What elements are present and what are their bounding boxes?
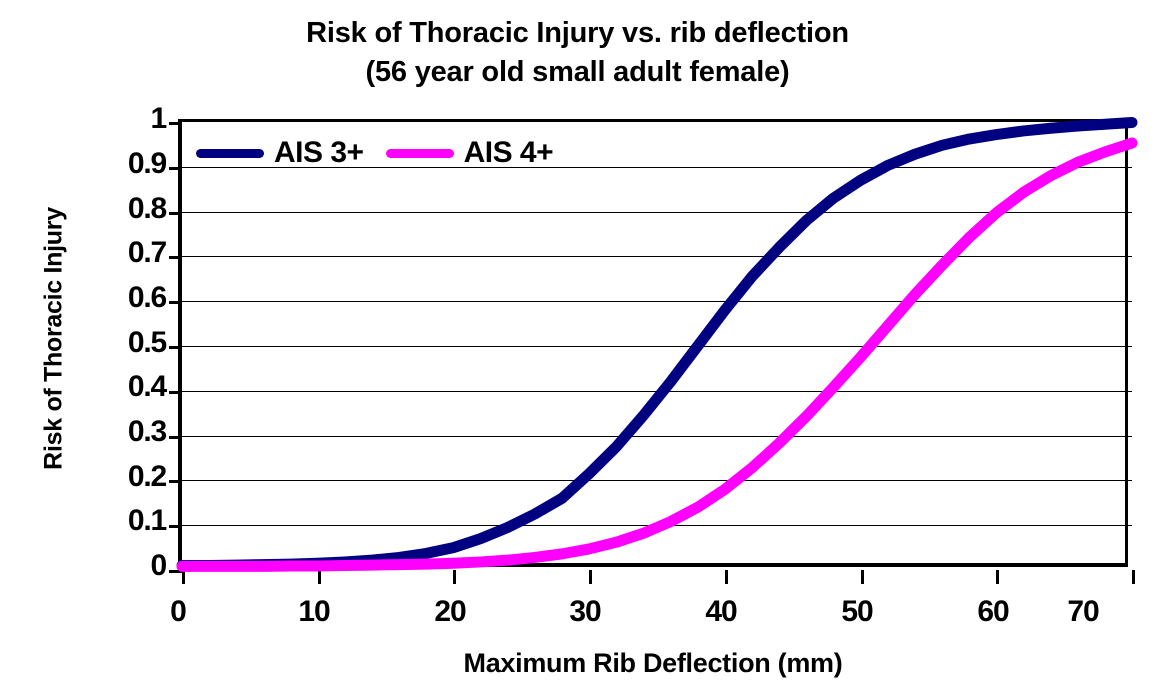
y-tick-mark (169, 525, 182, 528)
legend-swatch-icon (386, 149, 454, 158)
y-tick-mark (169, 256, 182, 259)
x-tick-mark (725, 570, 728, 584)
chart-container: Risk of Thoracic Injury vs. rib deflecti… (0, 0, 1155, 682)
y-tick-mark (169, 391, 182, 394)
y-tick-label: 0.6 (98, 283, 166, 313)
legend-label: AIS 4+ (464, 138, 554, 168)
legend-entry-ais-4plus: AIS 4+ (386, 138, 554, 168)
x-tick-label: 50 (812, 597, 902, 627)
chart-title-line2: (56 year old small adult female) (0, 53, 1155, 92)
y-tick-label: 0.2 (98, 462, 166, 492)
x-tick-mark (996, 570, 999, 584)
x-tick-label: 70 (1038, 597, 1128, 627)
y-tick-mark (169, 480, 182, 483)
x-tick-label: 0 (133, 597, 223, 627)
x-tick-mark (589, 570, 592, 584)
y-tick-label: 0.7 (98, 238, 166, 268)
x-tick-label: 40 (676, 597, 766, 627)
y-tick-label: 0.5 (98, 328, 166, 358)
y-tick-label: 0.9 (98, 149, 166, 179)
legend: AIS 3+ AIS 4+ (196, 138, 553, 168)
y-tick-mark (169, 167, 182, 170)
chart-title: Risk of Thoracic Injury vs. rib deflecti… (0, 14, 1155, 92)
x-tick-label: 60 (948, 597, 1038, 627)
x-tick-mark (318, 570, 321, 584)
plot-inner (182, 122, 1132, 570)
x-tick-mark (1132, 570, 1135, 584)
x-tick-mark (182, 570, 185, 584)
y-tick-label: 0.4 (98, 372, 166, 402)
y-tick-mark (169, 436, 182, 439)
x-tick-mark (453, 570, 456, 584)
series-line-ais-4plus (182, 143, 1132, 566)
x-tick-label: 10 (269, 597, 359, 627)
y-tick-label: 0.1 (98, 506, 166, 536)
plot-area (178, 119, 1128, 567)
y-tick-mark (169, 346, 182, 349)
y-tick-label: 0.3 (98, 417, 166, 447)
x-tick-label: 30 (540, 597, 630, 627)
y-tick-label: 0 (98, 551, 166, 581)
x-axis-title: Maximum Rib Deflection (mm) (178, 648, 1128, 679)
y-tick-mark (169, 212, 182, 215)
y-tick-mark (169, 122, 182, 125)
chart-title-line1: Risk of Thoracic Injury vs. rib deflecti… (306, 17, 849, 49)
y-tick-label: 0.8 (98, 194, 166, 224)
legend-label: AIS 3+ (274, 138, 364, 168)
series-line-ais-3plus (182, 122, 1132, 565)
y-tick-mark (169, 301, 182, 304)
x-tick-mark (861, 570, 864, 584)
y-tick-label: 1 (98, 104, 166, 134)
legend-swatch-icon (196, 149, 264, 158)
data-curves (182, 122, 1132, 570)
legend-entry-ais-3plus: AIS 3+ (196, 138, 364, 168)
x-tick-label: 20 (405, 597, 495, 627)
y-axis-title: Risk of Thoracic Injury (40, 109, 69, 569)
